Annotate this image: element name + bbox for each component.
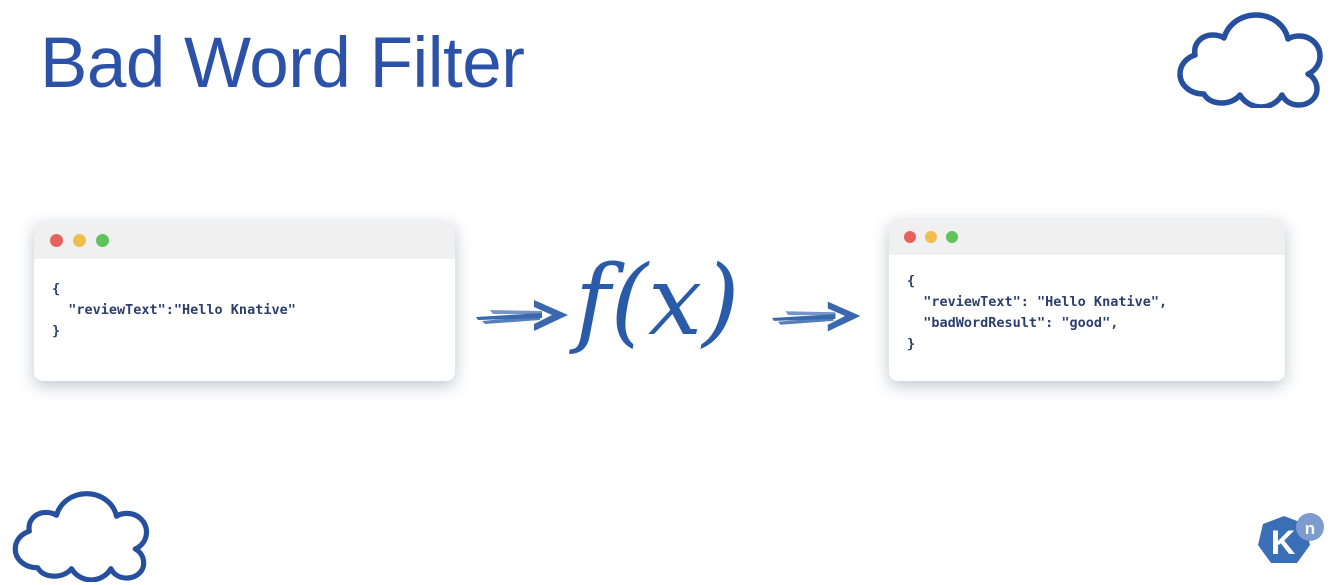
minimize-dot[interactable] <box>925 231 937 243</box>
request-json-code: { "reviewText":"Hello Knative" } <box>52 279 437 342</box>
transform-function-label: f(x) <box>575 253 740 349</box>
arrow-right-sketch-icon-output <box>772 296 872 338</box>
cloud-outline-icon-bottom-left <box>4 486 154 582</box>
request-json-window: { "reviewText":"Hello Knative" } <box>34 221 455 381</box>
minimize-dot[interactable] <box>73 234 86 247</box>
slide-canvas: Bad Word Filter { "reviewText":"Hello Kn… <box>0 0 1341 585</box>
response-json-window: { "reviewText": "Hello Knative", "badWor… <box>889 219 1285 381</box>
window-body: { "reviewText": "Hello Knative", "badWor… <box>889 255 1285 365</box>
window-titlebar <box>889 219 1285 255</box>
knative-logo-letter: K <box>1271 524 1296 562</box>
window-body: { "reviewText":"Hello Knative" } <box>34 259 455 352</box>
knative-logo: K n <box>1253 512 1329 582</box>
cloud-outline-icon-top-right <box>1168 8 1328 108</box>
arrow-right-sketch-icon-input <box>476 295 580 337</box>
knative-badge-letter: n <box>1305 519 1315 538</box>
close-dot[interactable] <box>904 231 916 243</box>
maximize-dot[interactable] <box>946 231 958 243</box>
page-title: Bad Word Filter <box>40 28 524 99</box>
maximize-dot[interactable] <box>96 234 109 247</box>
window-titlebar <box>34 221 455 259</box>
response-json-code: { "reviewText": "Hello Knative", "badWor… <box>907 271 1267 355</box>
close-dot[interactable] <box>50 234 63 247</box>
